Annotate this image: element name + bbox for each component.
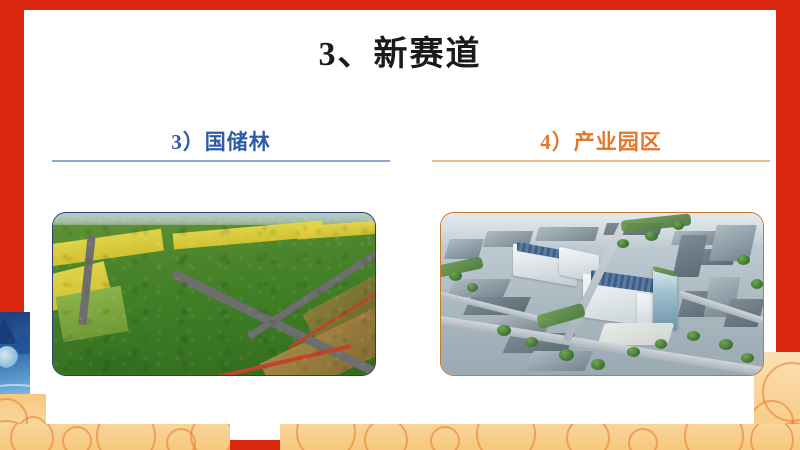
section-heading-chanyeyuanqu: 4）产业园区 bbox=[432, 126, 770, 160]
column-right: 4）产业园区 bbox=[432, 126, 770, 162]
column-left: 3）国储林 bbox=[52, 126, 390, 162]
forest-scene bbox=[53, 213, 375, 375]
frame-border-top bbox=[0, 0, 800, 10]
industrial-park-photo bbox=[440, 212, 764, 376]
section-heading-guochulin: 3）国储林 bbox=[52, 126, 390, 160]
section-divider-right bbox=[432, 160, 770, 162]
page-title: 3、新赛道 bbox=[0, 26, 800, 75]
industrial-park-scene bbox=[441, 213, 763, 375]
gold-swirl-decoration-bottom-left bbox=[0, 424, 230, 450]
slide-canvas: 3、新赛道 3）国储林 4）产业园区 bbox=[0, 0, 800, 450]
section-divider-left bbox=[52, 160, 390, 162]
gold-swirl-decoration-bottom-right bbox=[280, 424, 800, 450]
aerial-forest-photo bbox=[52, 212, 376, 376]
